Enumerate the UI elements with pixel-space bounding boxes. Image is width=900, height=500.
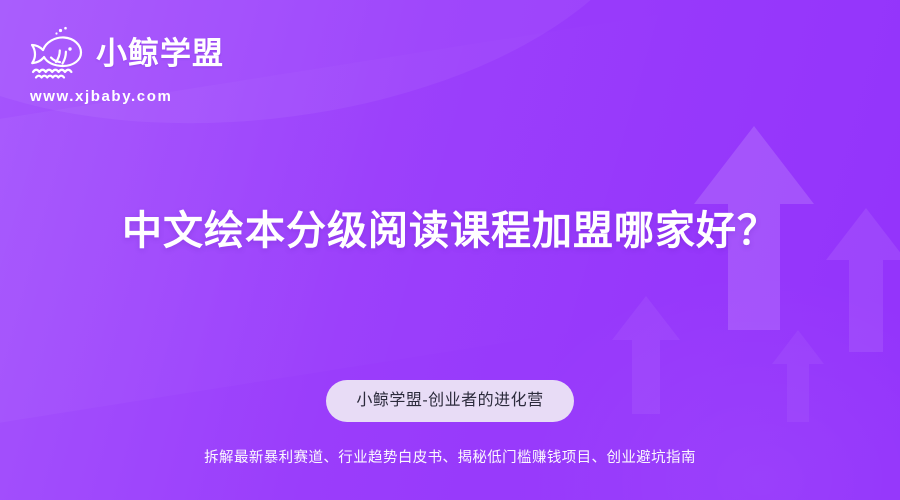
brand-website: www.xjbaby.com: [30, 89, 172, 104]
logo-row: 小鲸学盟: [26, 24, 224, 82]
brand-name: 小鲸学盟: [96, 38, 224, 69]
promo-banner: 小鲸学盟 www.xjbaby.com 中文绘本分级阅读课程加盟哪家好？ 小鲸学…: [0, 0, 900, 500]
page-title: 中文绘本分级阅读课程加盟哪家好？: [0, 206, 900, 256]
status-badge[interactable]: 小鲸学盟-创业者的进化营: [326, 380, 573, 422]
whale-icon: [26, 24, 88, 82]
badge-container: 小鲸学盟-创业者的进化营: [0, 380, 900, 422]
tagline: 拆解最新暴利赛道、行业趋势白皮书、揭秘低门槛赚钱项目、创业避坑指南: [0, 449, 900, 468]
brand-logo[interactable]: 小鲸学盟 www.xjbaby.com: [26, 24, 224, 104]
